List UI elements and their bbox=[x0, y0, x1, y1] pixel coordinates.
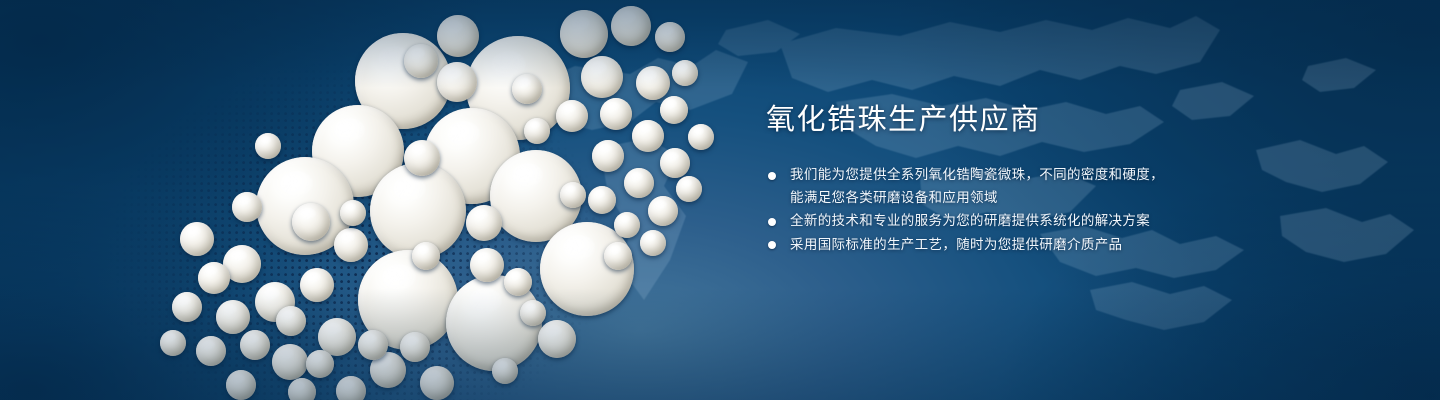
list-item-line-1: 我们能为您提供全系列氧化锆陶瓷微珠，不同的密度和硬度， bbox=[790, 167, 1164, 182]
page-title: 氧化锆珠生产供应商 bbox=[762, 102, 1322, 138]
bullet-dot-icon bbox=[768, 241, 776, 249]
bullet-dot-icon bbox=[768, 172, 776, 180]
feature-list: 我们能为您提供全系列氧化锆陶瓷微珠，不同的密度和硬度， 能满足您各类研磨设备和应… bbox=[762, 164, 1322, 256]
zirconia-beads-image bbox=[0, 0, 760, 400]
bullet-dot-icon bbox=[768, 218, 776, 226]
list-item: 全新的技术和专业的服务为您的研磨提供系统化的解决方案 bbox=[762, 210, 1322, 233]
list-item-line-2: 能满足您各类研磨设备和应用领域 bbox=[790, 187, 1322, 210]
list-item: 我们能为您提供全系列氧化锆陶瓷微珠，不同的密度和硬度， 能满足您各类研磨设备和应… bbox=[762, 164, 1322, 209]
banner-copy: 氧化锆珠生产供应商 我们能为您提供全系列氧化锆陶瓷微珠，不同的密度和硬度， 能满… bbox=[762, 102, 1322, 257]
list-item: 采用国际标准的生产工艺，随时为您提供研磨介质产品 bbox=[762, 234, 1322, 257]
hero-banner: 氧化锆珠生产供应商 我们能为您提供全系列氧化锆陶瓷微珠，不同的密度和硬度， 能满… bbox=[0, 0, 1440, 400]
list-item-line-1: 采用国际标准的生产工艺，随时为您提供研磨介质产品 bbox=[790, 237, 1122, 252]
list-item-line-1: 全新的技术和专业的服务为您的研磨提供系统化的解决方案 bbox=[790, 213, 1150, 228]
